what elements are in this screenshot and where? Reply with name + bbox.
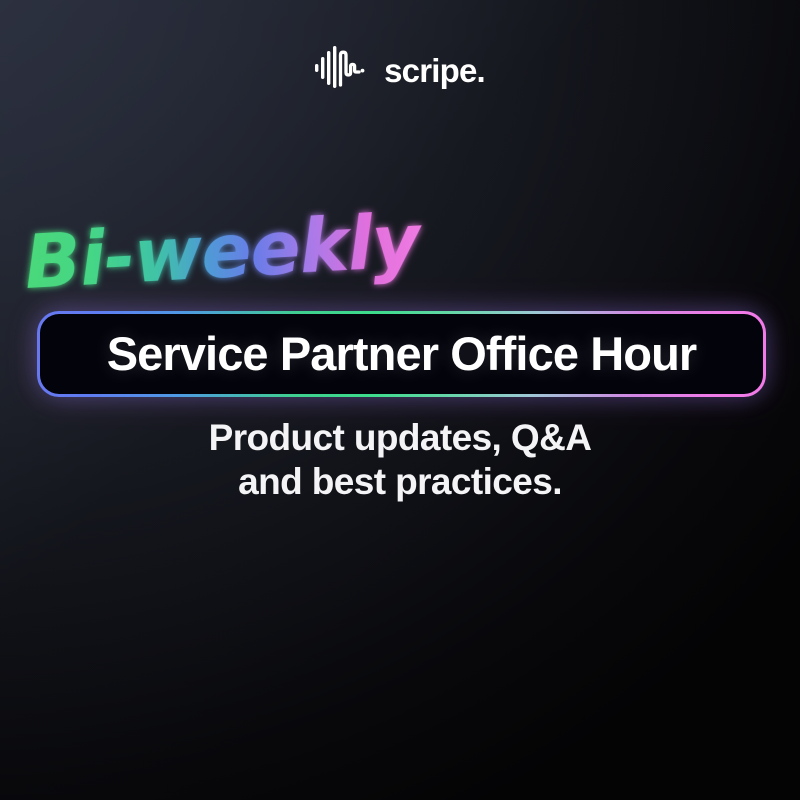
title-inner-fill: Service Partner Office Hour [40, 314, 763, 394]
title-gradient-frame: Service Partner Office Hour [37, 311, 766, 397]
subtitle-block: Product updates, Q&A and best practices. [0, 416, 800, 505]
brand-wordmark: scripe. [384, 54, 485, 87]
page-title: Service Partner Office Hour [107, 330, 697, 377]
eyebrow-text: Bi-weekly [22, 198, 425, 306]
eyebrow-handwritten: Bi-weekly [22, 206, 382, 316]
scripe-waveform-icon [315, 46, 371, 93]
brand-logo-lockup: scripe. [0, 46, 800, 93]
poster-canvas: scripe. [0, 0, 800, 800]
subtitle-line-1: Product updates, Q&A [0, 416, 800, 460]
subtitle-line-2: and best practices. [0, 460, 800, 504]
